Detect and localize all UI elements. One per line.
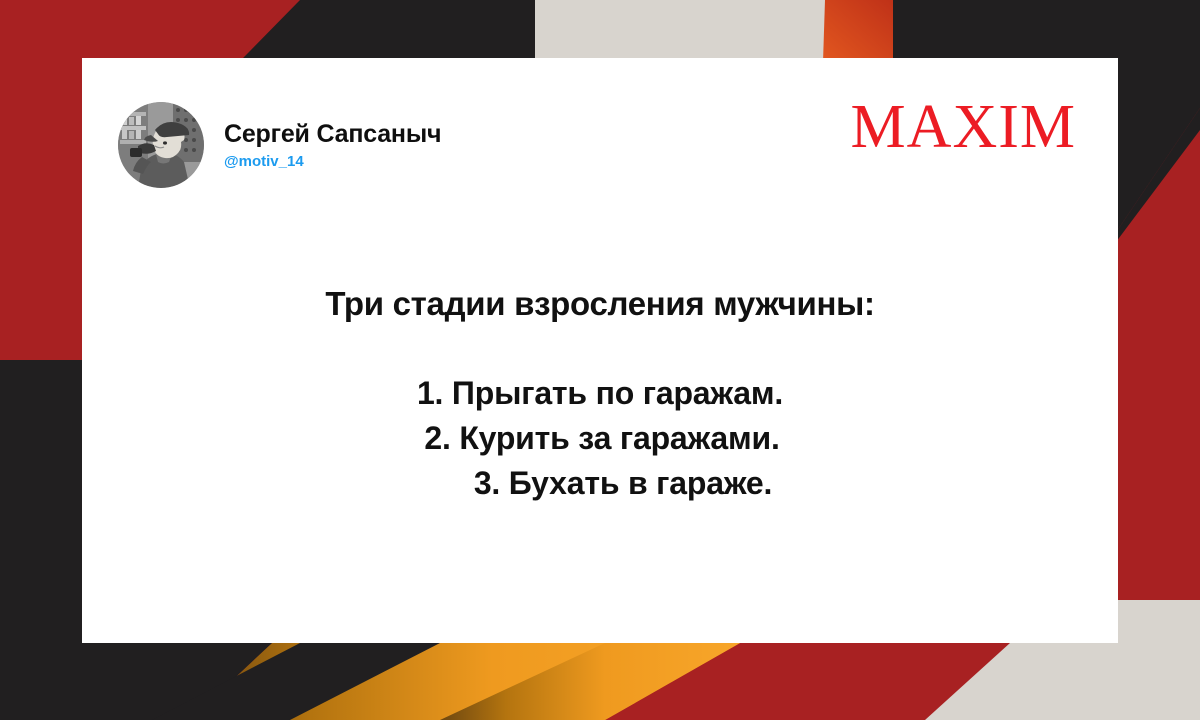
- meme-image: Сергей Сапсаныч @motiv_14 MAXIM Три стад…: [0, 0, 1200, 720]
- profile-text: Сергей Сапсаныч @motiv_14: [224, 120, 441, 170]
- card-header: Сергей Сапсаныч @motiv_14 MAXIM: [82, 58, 1118, 198]
- post-list: 1. Прыгать по гаражам. 2. Курить за гара…: [82, 371, 1118, 507]
- display-name: Сергей Сапсаныч: [224, 120, 441, 149]
- tweet-card: Сергей Сапсаныч @motiv_14 MAXIM Три стад…: [82, 58, 1118, 643]
- post-body: Три стадии взросления мужчины: 1. Прыгат…: [82, 284, 1118, 507]
- list-item: 3. Бухать в гараже.: [82, 461, 1118, 506]
- profile-block[interactable]: Сергей Сапсаныч @motiv_14: [118, 102, 441, 188]
- user-avatar-photo: [118, 102, 204, 188]
- avatar-illustration: [118, 102, 204, 188]
- list-item: 2. Курить за гаражами.: [82, 416, 1118, 461]
- user-handle[interactable]: @motiv_14: [224, 153, 441, 170]
- maxim-logo: MAXIM: [851, 96, 1076, 158]
- post-heading: Три стадии взросления мужчины:: [82, 284, 1118, 324]
- list-item: 1. Прыгать по гаражам.: [82, 371, 1118, 416]
